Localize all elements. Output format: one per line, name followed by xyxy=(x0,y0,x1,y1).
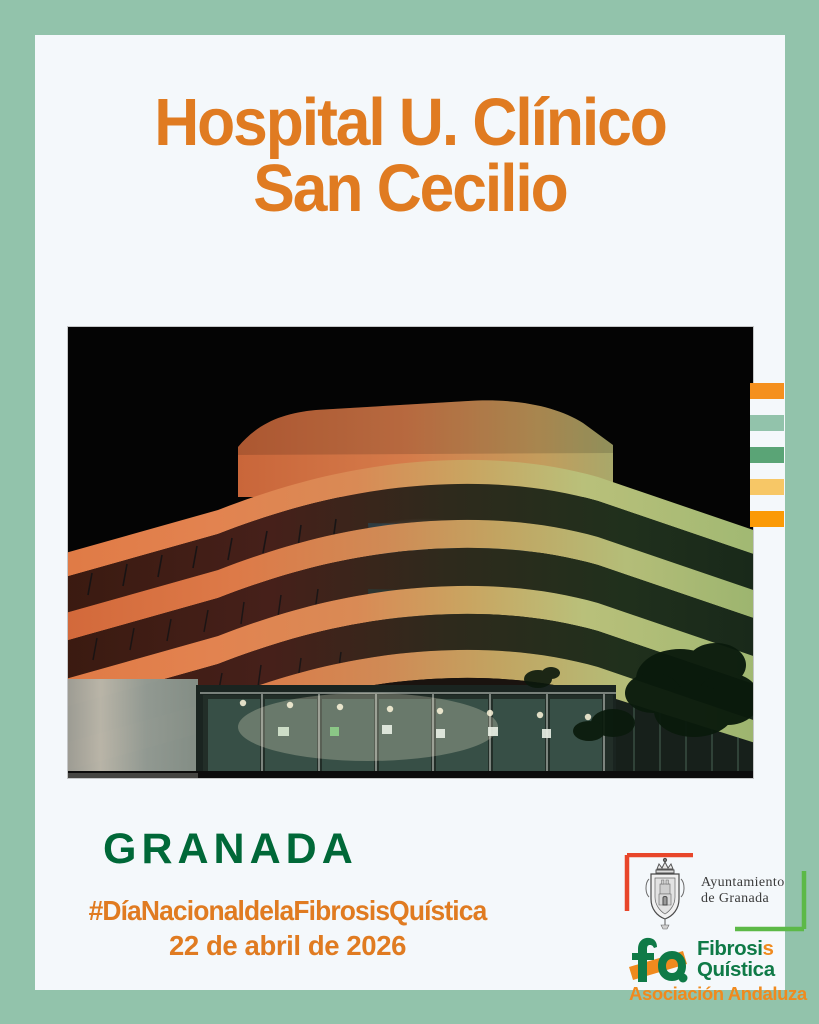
ayuntamiento-line-2: de Granada xyxy=(701,891,785,907)
campaign-date: 22 de abril de 2026 xyxy=(35,930,540,962)
title-line-1: Hospital U. Clínico xyxy=(61,90,759,156)
decorative-stripe-6 xyxy=(750,463,770,479)
granada-coat-of-arms-icon xyxy=(646,858,684,929)
decorative-stripe-7 xyxy=(750,479,784,495)
poster-root: Hospital U. Clínico San Cecilio xyxy=(0,0,819,1024)
decorative-stripe-2 xyxy=(750,399,770,415)
decorative-stripe-3 xyxy=(750,415,784,431)
fq-association-line: Asociación Andaluza xyxy=(629,983,807,1005)
decorative-stripe-4 xyxy=(750,431,770,447)
fq-word-fibrosis: Fibrosis xyxy=(697,939,775,960)
decorative-stripes xyxy=(750,383,784,538)
city-label: GRANADA xyxy=(103,825,358,874)
fibrosis-quistica-asociacion-andaluza-logo: Fibrosis Quística Asociación Andaluza xyxy=(627,935,812,1015)
ayuntamiento-de-granada-logo: Ayuntamiento de Granada xyxy=(623,853,808,933)
fq-word-quistica: Quística xyxy=(697,960,775,981)
decorative-stripe-9 xyxy=(750,511,784,527)
ayuntamiento-line-1: Ayuntamiento xyxy=(701,875,785,891)
decorative-stripe-8 xyxy=(750,495,770,511)
fq-word-fibrosis-last-s: s xyxy=(763,937,774,960)
campaign-hashtag: #DíaNacionaldelaFibrosisQuística xyxy=(45,895,530,927)
decorative-stripe-5 xyxy=(750,447,784,463)
decorative-stripe-1 xyxy=(750,383,784,399)
fq-wordmark: Fibrosis Quística xyxy=(697,939,775,980)
page-title: Hospital U. Clínico San Cecilio xyxy=(35,90,785,221)
hospital-night-photo xyxy=(68,327,753,778)
campaign-block: #DíaNacionaldelaFibrosisQuística 22 de a… xyxy=(35,895,540,962)
title-line-2: San Cecilio xyxy=(61,156,759,222)
ayuntamiento-logo-text: Ayuntamiento de Granada xyxy=(701,875,785,906)
poster-card: Hospital U. Clínico San Cecilio xyxy=(35,35,785,990)
